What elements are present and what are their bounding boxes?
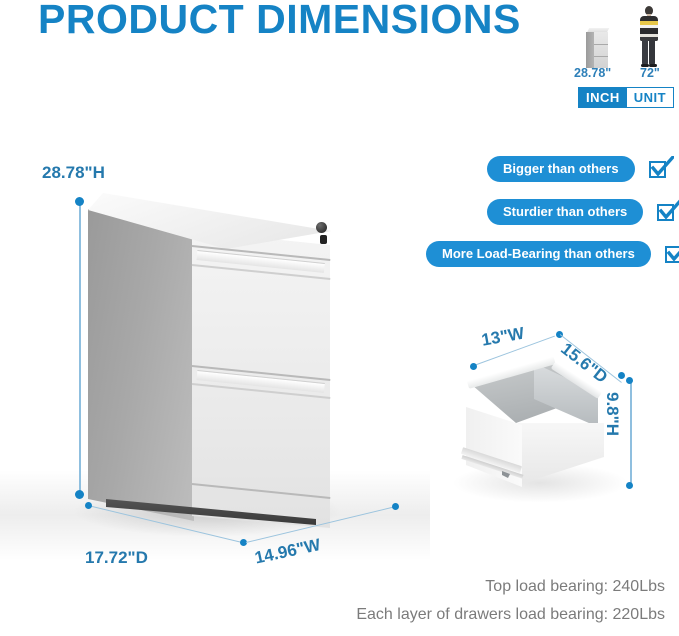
person-legs — [642, 40, 656, 66]
cabinet-height-endpoint-bottom — [75, 490, 84, 499]
drawer-height-dimension-line — [630, 382, 632, 486]
cabinet-lock-latch — [320, 235, 327, 244]
filing-cabinet-icon — [586, 28, 610, 68]
check-mark — [658, 199, 679, 223]
cabinet-icon-divider-2 — [594, 56, 608, 57]
cabinet-icon-divider-1 — [594, 44, 608, 45]
unit-badge: INCH UNIT — [578, 87, 674, 108]
unit-badge-inch: INCH — [579, 88, 627, 107]
drawer-depth-endpoint — [618, 372, 625, 379]
person-leg-left — [642, 40, 648, 65]
scale-person-height-label: 72" — [640, 66, 660, 80]
feature-row-sturdier: Sturdier than others — [487, 199, 679, 225]
checkbox-checked-icon — [649, 159, 671, 180]
drawer-height-endpoint-top — [626, 377, 633, 384]
cabinet-lock-icon — [316, 222, 327, 233]
drawer-height-label: 9.8"H — [602, 392, 622, 436]
feature-pill-label: More Load-Bearing than others — [426, 241, 651, 267]
note-drawer-load-bearing: Each layer of drawers load bearing: 220L… — [356, 606, 665, 624]
cabinet-height-endpoint-top — [75, 197, 84, 206]
scale-cabinet-height-label: 28.78" — [574, 66, 611, 80]
person-leg-right — [649, 40, 655, 65]
person-torso — [640, 16, 658, 41]
person-icon — [634, 6, 664, 68]
cabinet-width-endpoint-right — [392, 503, 399, 510]
scale-comparison-group: 28.78" 72" INCH UNIT — [572, 2, 679, 110]
cabinet-depth-label: 17.72"D — [85, 548, 148, 568]
infographic-canvas: PRODUCT DIMENSIONS — [0, 0, 679, 636]
feature-pill-label: Sturdier than others — [487, 199, 643, 225]
drawer-width-endpoint-left — [470, 363, 477, 370]
cabinet-side-panel — [88, 209, 194, 521]
feature-pill-label: Bigger than others — [487, 156, 635, 182]
unit-badge-label: UNIT — [627, 88, 673, 107]
cabinet-height-dimension-line — [79, 202, 81, 495]
cabinet-depth-endpoint-left — [85, 502, 92, 509]
drawer-width-label: 13"W — [480, 324, 526, 351]
cabinet-icon-front — [594, 32, 608, 68]
feature-row-bigger: Bigger than others — [487, 156, 671, 182]
check-mark — [650, 156, 674, 180]
drawer-height-endpoint-bottom — [626, 482, 633, 489]
checkbox-checked-icon — [657, 202, 679, 223]
page-title: PRODUCT DIMENSIONS — [38, 0, 521, 43]
filing-cabinet-illustration — [88, 193, 368, 538]
note-top-load-bearing: Top load bearing: 240Lbs — [485, 578, 665, 596]
feature-row-load-bearing: More Load-Bearing than others — [426, 241, 679, 267]
cabinet-icon-side — [586, 32, 594, 68]
check-mark — [666, 241, 679, 265]
sweater-stripe-2 — [640, 25, 658, 28]
checkbox-checked-icon — [665, 244, 679, 265]
cabinet-height-label: 28.78"H — [42, 163, 105, 183]
